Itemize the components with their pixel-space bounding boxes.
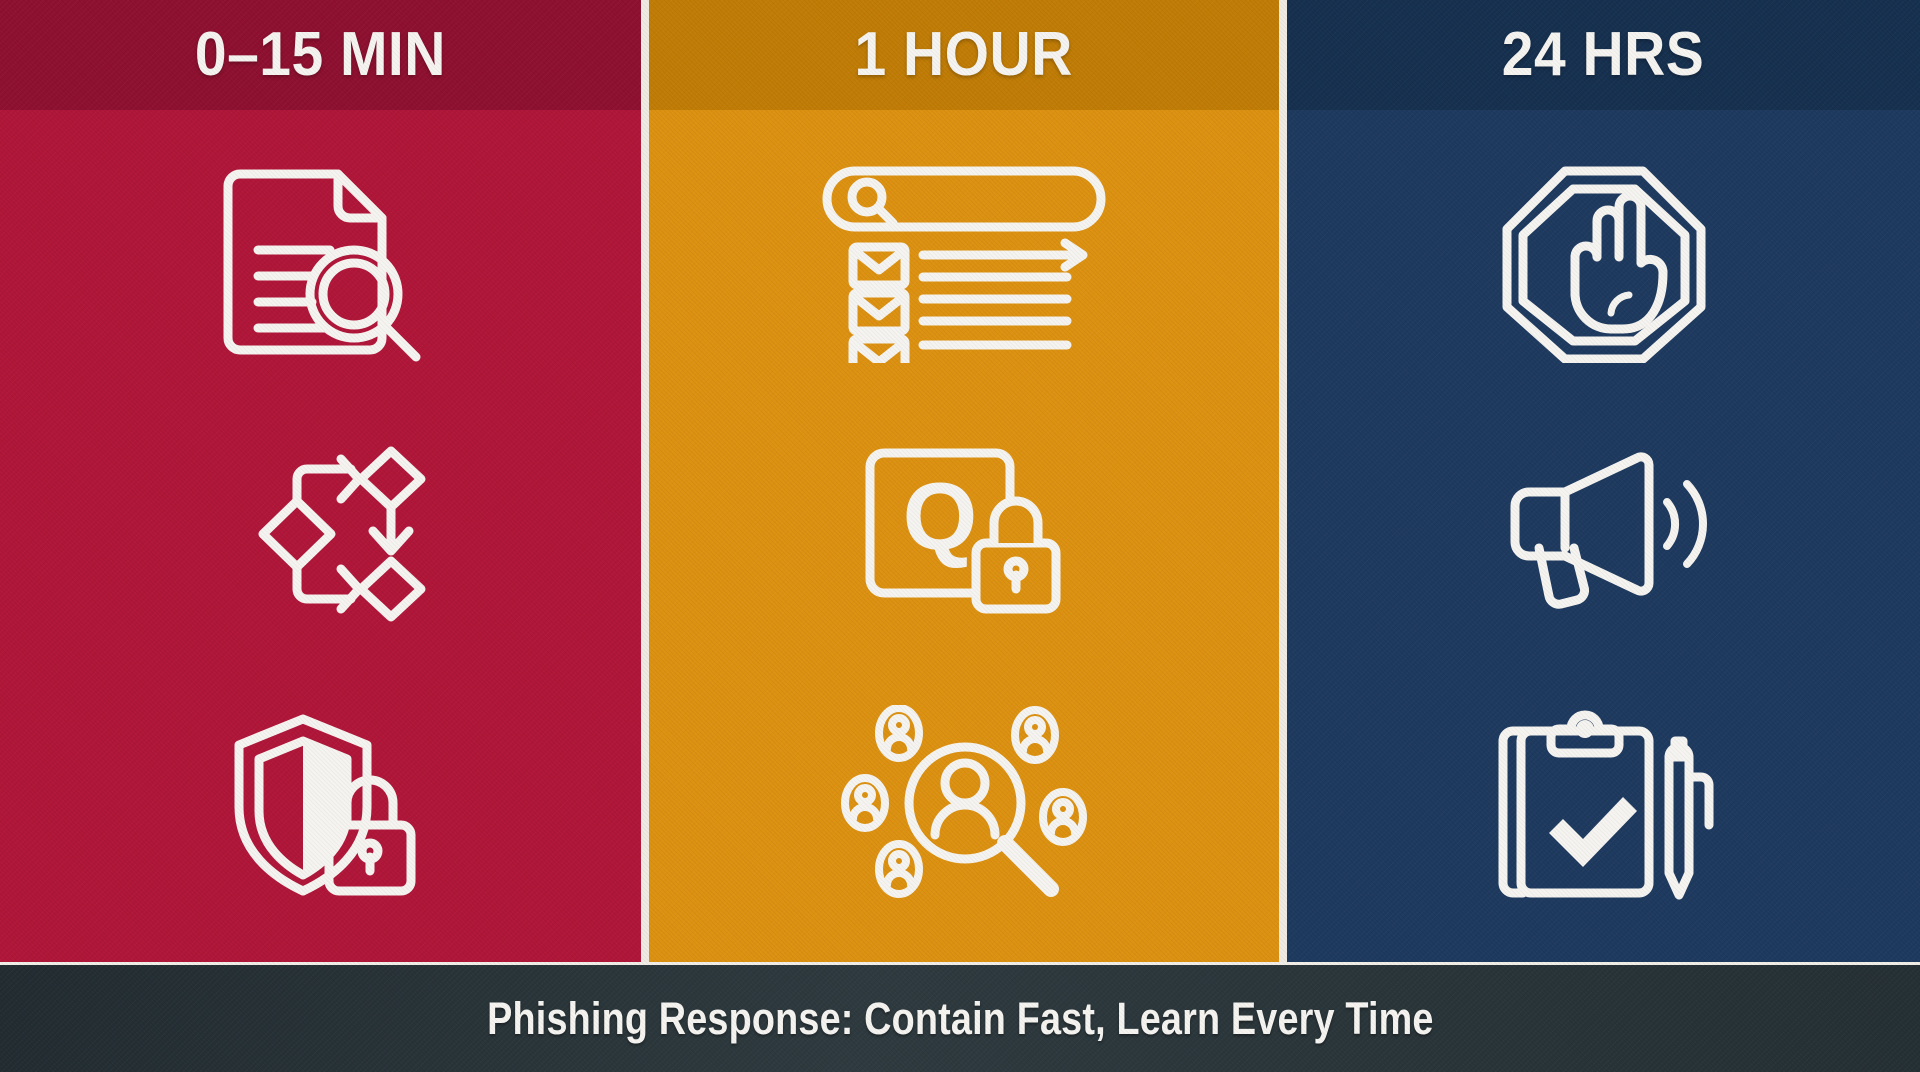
- column-icons-first-fifteen-minutes: [0, 110, 641, 962]
- search-mailbox-list-icon: [819, 163, 1109, 363]
- footer-banner-title: Phishing Response: Contain Fast, Learn E…: [487, 993, 1433, 1045]
- column-icons-twenty-four-hours: [1287, 110, 1920, 962]
- timeline-columns: 0–15 MIN: [0, 0, 1920, 962]
- icon-slot: [0, 399, 641, 669]
- icon-slot: [1287, 128, 1920, 398]
- column-header-one-hour: 1 HOUR: [649, 0, 1279, 110]
- icon-slot: Q: [649, 399, 1279, 669]
- megaphone-icon: [1489, 444, 1719, 624]
- clipboard-check-pen-icon: [1489, 705, 1719, 905]
- infographic-root: 0–15 MIN: [0, 0, 1920, 1072]
- user-impact-search-icon: [839, 705, 1089, 905]
- column-header-label: 1 HOUR: [855, 24, 1073, 86]
- icon-slot: [1287, 669, 1920, 939]
- flowchart-decision-icon: [211, 439, 431, 629]
- icon-slot: [1287, 399, 1920, 669]
- icon-slot: [0, 669, 641, 939]
- stop-hand-icon: [1499, 163, 1709, 363]
- column-divider-2: [1279, 0, 1287, 962]
- icon-slot: [0, 128, 641, 398]
- column-icons-one-hour: Q: [649, 110, 1279, 962]
- icon-slot: [649, 669, 1279, 939]
- column-twenty-four-hours: 24 HRS: [1287, 0, 1920, 962]
- column-header-label: 24 HRS: [1502, 24, 1704, 86]
- quarantine-lock-icon: Q: [854, 439, 1074, 629]
- shield-lock-icon: [211, 705, 431, 905]
- quarantine-letter: Q: [903, 463, 978, 570]
- document-magnifier-icon: [206, 158, 436, 368]
- column-header-twenty-four-hours: 24 HRS: [1287, 0, 1920, 110]
- footer-banner: Phishing Response: Contain Fast, Learn E…: [0, 962, 1920, 1072]
- icon-slot: [649, 128, 1279, 398]
- column-one-hour: 1 HOUR: [649, 0, 1279, 962]
- column-header-first-fifteen-minutes: 0–15 MIN: [0, 0, 641, 110]
- column-first-fifteen-minutes: 0–15 MIN: [0, 0, 641, 962]
- column-header-label: 0–15 MIN: [195, 24, 446, 86]
- column-divider-1: [641, 0, 649, 962]
